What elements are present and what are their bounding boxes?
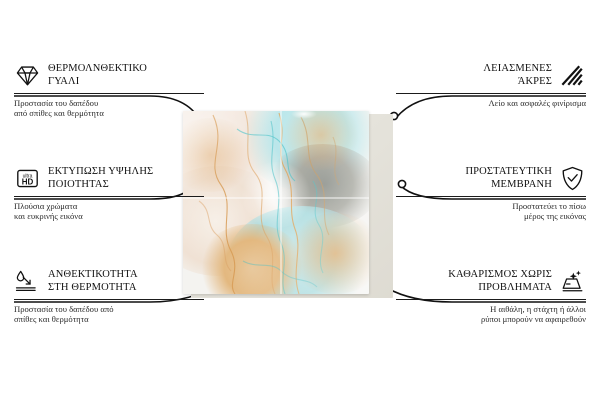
product-glass-panel (183, 111, 369, 294)
sponge-sparkle-icon (559, 268, 586, 295)
feature-description: Η αιθάλη, η στάχτη ή άλλοιρύποι μπορούν … (396, 304, 586, 325)
divider (396, 196, 586, 197)
feature-heat-durability: ΑΝΘΕΚΤΙΚΟΤΗΤΑΣΤΗ ΘΕΡΜΟΤΗΤΑ Προστασία του… (14, 268, 204, 325)
ultra-hd-icon: ultra HD (14, 165, 41, 192)
glass-highlight (291, 111, 317, 119)
divider (396, 93, 586, 94)
feature-header: ultra HD ΕΚΤΥΠΩΣΗ ΥΨΗΛΗΣΠΟΙΟΤΗΤΑΣ (14, 165, 204, 192)
feature-header: ΚΑΘΑΡΙΣΜΟΣ ΧΩΡΙΣΠΡΟΒΛΗΜΑΤΑ (396, 268, 586, 295)
divider (14, 299, 204, 300)
feature-easy-cleaning: ΚΑΘΑΡΙΣΜΟΣ ΧΩΡΙΣΠΡΟΒΛΗΜΑΤΑ Η αιθάλη, η σ… (396, 268, 586, 325)
diamond-icon (14, 62, 41, 89)
product-image (183, 108, 393, 298)
feature-title: ΚΑΘΑΡΙΣΜΟΣ ΧΩΡΙΣΠΡΟΒΛΗΜΑΤΑ (448, 269, 552, 294)
feature-header: ΘΕΡΜΟΛΝΘΕΚΤΙΚΟΓΥΑΛΙ (14, 62, 204, 89)
feature-title: ΑΝΘΕΚΤΙΚΟΤΗΤΑΣΤΗ ΘΕΡΜΟΤΗΤΑ (48, 269, 138, 294)
flame-heat-resistance-icon (14, 268, 41, 295)
feature-description: Προστασία του δαπέδουαπό σπίθες και θερμ… (14, 98, 204, 119)
glass-gloss-overlay (183, 111, 369, 294)
divider (14, 196, 204, 197)
feature-protective-membrane: ΠΡΟΣΤΑΤΕΥΤΙΚΗΜΕΜΒΡΑΝΗ Προστατεύει το πίσ… (396, 165, 586, 222)
divider (14, 93, 204, 94)
feature-thermal-resistant-glass: ΘΕΡΜΟΛΝΘΕΚΤΙΚΟΓΥΑΛΙ Προστασία του δαπέδο… (14, 62, 204, 119)
feature-polished-edges: ΛΕΙΑΣΜΕΝΕΣΆΚΡΕΣ Λείο και ασφαλές φινίρισ… (396, 62, 586, 108)
divider (396, 299, 586, 300)
shield-check-icon (559, 165, 586, 192)
feature-description: Λείο και ασφαλές φινίρισμα (396, 98, 586, 108)
feature-title: ΛΕΙΑΣΜΕΝΕΣΆΚΡΕΣ (483, 63, 552, 88)
feature-description: Πλούσια χρώματακαι ευκρινής εικόνα (14, 201, 204, 222)
feature-description: Προστασία του δαπέδου απόσπίθες και θερμ… (14, 304, 204, 325)
feature-header: ΛΕΙΑΣΜΕΝΕΣΆΚΡΕΣ (396, 62, 586, 89)
feature-title: ΠΡΟΣΤΑΤΕΥΤΙΚΗΜΕΜΒΡΑΝΗ (465, 166, 552, 191)
feature-high-quality-print: ultra HD ΕΚΤΥΠΩΣΗ ΥΨΗΛΗΣΠΟΙΟΤΗΤΑΣ Πλούσι… (14, 165, 204, 222)
feature-header: ΠΡΟΣΤΑΤΕΥΤΙΚΗΜΕΜΒΡΑΝΗ (396, 165, 586, 192)
feature-title: ΘΕΡΜΟΛΝΘΕΚΤΙΚΟΓΥΑΛΙ (48, 63, 147, 88)
feature-title: ΕΚΤΥΠΩΣΗ ΥΨΗΛΗΣΠΟΙΟΤΗΤΑΣ (48, 166, 153, 191)
feature-header: ΑΝΘΕΚΤΙΚΟΤΗΤΑΣΤΗ ΘΕΡΜΟΤΗΤΑ (14, 268, 204, 295)
feature-description: Προστατεύει το πίσωμέρος της εικόνας (396, 201, 586, 222)
svg-text:HD: HD (22, 177, 34, 186)
beveled-edge-icon (559, 62, 586, 89)
infographic-canvas: ΘΕΡΜΟΛΝΘΕΚΤΙΚΟΓΥΑΛΙ Προστασία του δαπέδο… (0, 0, 600, 400)
